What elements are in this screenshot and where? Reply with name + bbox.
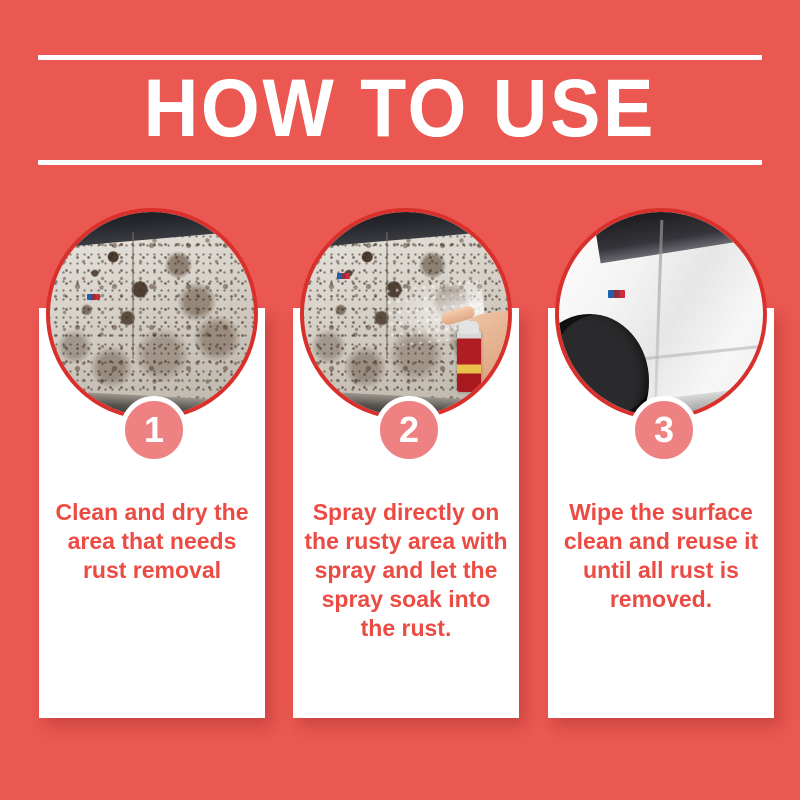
header: HOW TO USE: [38, 55, 762, 165]
step-2-text: Spray directly on the rusty area with sp…: [293, 498, 519, 643]
page-title: HOW TO USE: [67, 60, 733, 160]
spray-bottle: [457, 330, 481, 392]
m-badge-icon: [608, 290, 625, 298]
m-badge-icon: [87, 294, 100, 300]
steps-container: Clean and dry the area that needs rust r…: [0, 208, 800, 728]
step-3-text: Wipe the surface clean and reuse it unti…: [548, 498, 774, 614]
clean-car-image: [559, 212, 763, 416]
panel-seam-line: [132, 232, 134, 358]
infographic-page: { "header": { "title": "HOW TO USE", "ru…: [0, 0, 800, 800]
rusty-panel-image-1: [50, 212, 254, 416]
wheel-rim: [559, 384, 599, 416]
header-rule-bottom: [38, 160, 762, 165]
m-badge-icon: [337, 273, 350, 279]
spraying-rust-image: [304, 212, 508, 416]
step-3-number-badge: 3: [630, 396, 698, 464]
step-3-photo: [555, 208, 767, 420]
step-1-photo: [46, 208, 258, 420]
step-1-number-badge: 1: [120, 396, 188, 464]
step-2-photo: [300, 208, 512, 420]
step-2-number-badge: 2: [375, 396, 443, 464]
step-1-text: Clean and dry the area that needs rust r…: [39, 498, 265, 585]
spray-nozzle-icon: [459, 321, 479, 334]
